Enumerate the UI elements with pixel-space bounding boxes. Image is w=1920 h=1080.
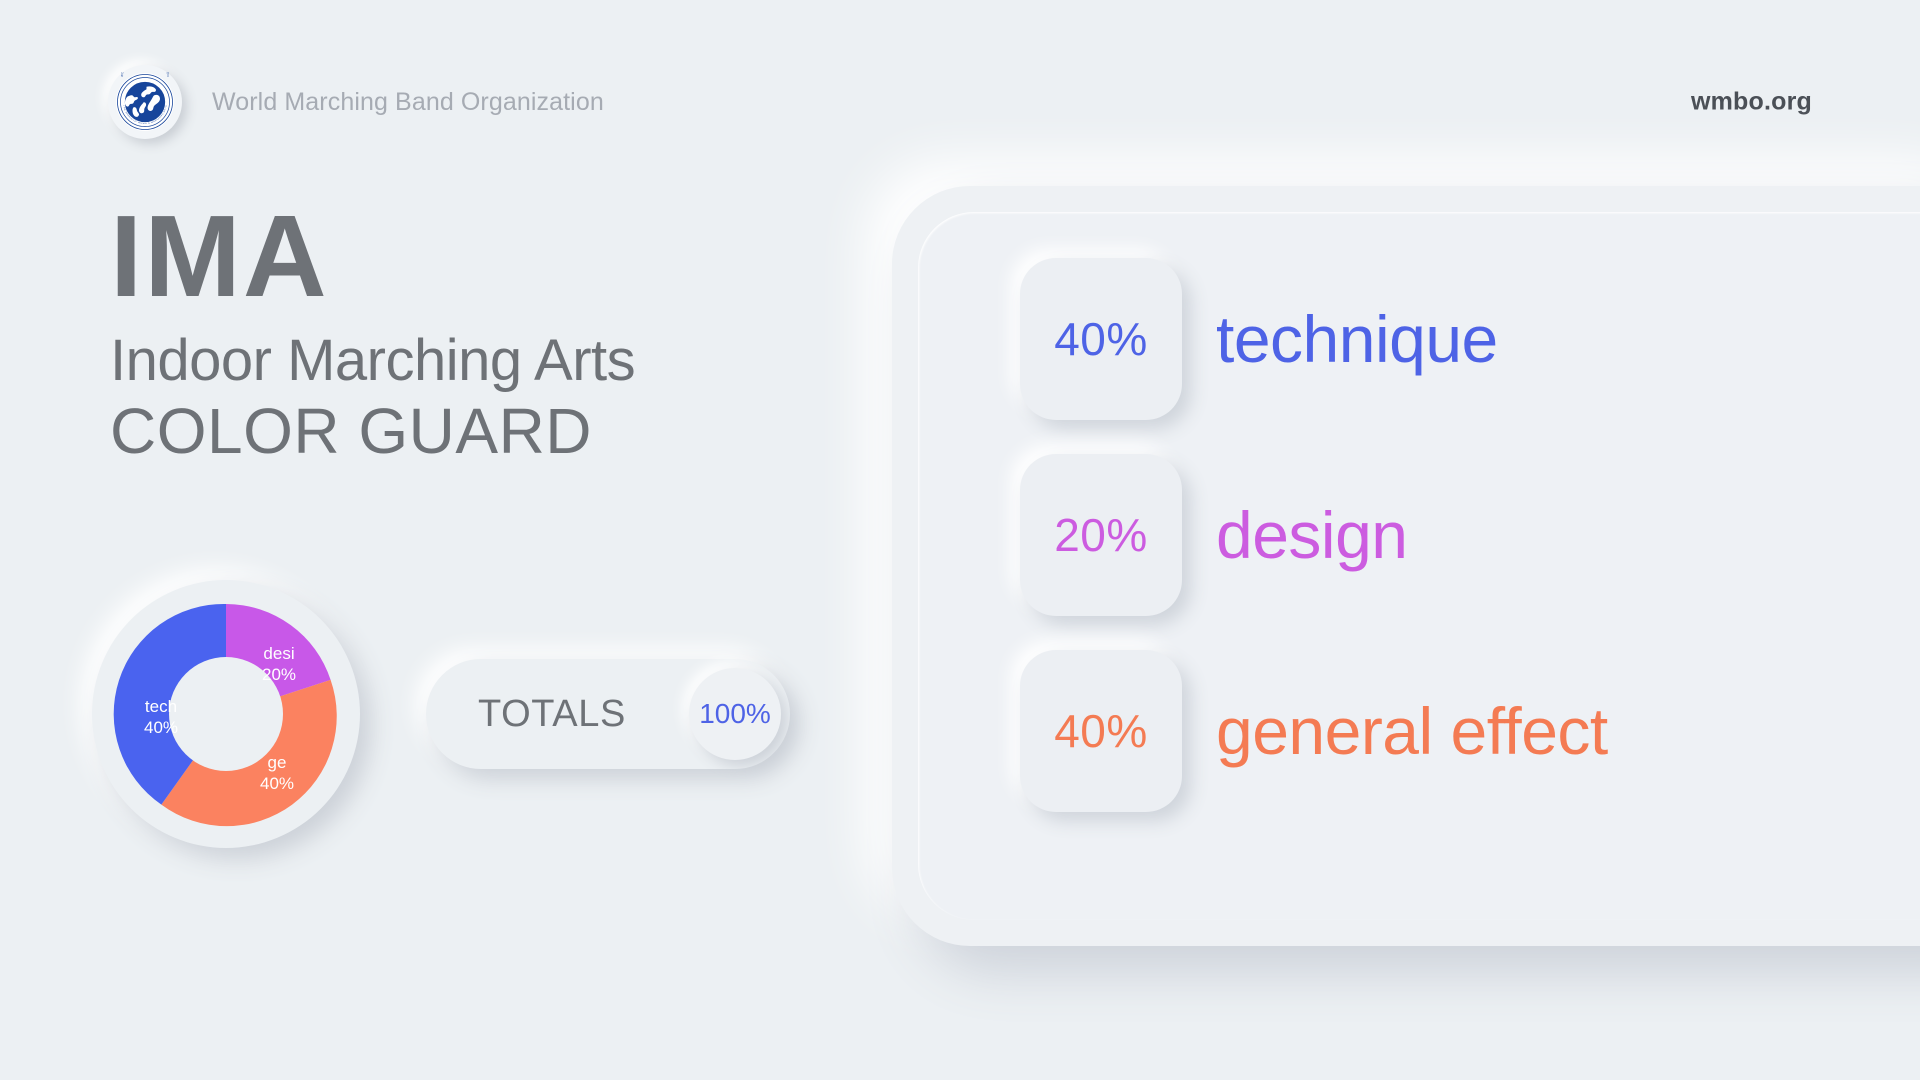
criteria-chip-technique[interactable]: 40% — [1020, 258, 1182, 420]
criteria-chip-general-effect[interactable]: 40% — [1020, 650, 1182, 812]
site-url-link[interactable]: wmbo.org — [1691, 88, 1812, 117]
criteria-name-technique: technique — [1216, 306, 1498, 372]
criteria-name-design: design — [1216, 502, 1408, 568]
criteria-row-technique[interactable]: 40% technique — [1020, 258, 1920, 420]
criteria-percent-design: 20% — [1054, 508, 1148, 562]
criteria-panel: 40% technique 20% design 40% general eff… — [892, 186, 1920, 946]
criteria-chip-design[interactable]: 20% — [1020, 454, 1182, 616]
totals-label: TOTALS — [478, 693, 626, 736]
organization-name: World Marching Band Organization — [212, 88, 604, 117]
hero-text-block: IMA Indoor Marching Arts COLOR GUARD — [110, 200, 850, 468]
criteria-row-general-effect[interactable]: 40% general effect — [1020, 650, 1920, 812]
page-header: WORLD MARCHING BAND ORGANIZATION THE WOR… — [0, 62, 1920, 142]
page-category: COLOR GUARD — [110, 396, 850, 468]
criteria-list: 40% technique 20% design 40% general eff… — [1020, 258, 1920, 812]
totals-value: 100% — [699, 698, 771, 730]
criteria-row-design[interactable]: 20% design — [1020, 454, 1920, 616]
donut-chart-container[interactable]: tech 40% desi 20% ge 40% — [92, 580, 360, 848]
brand-lockup: WORLD MARCHING BAND ORGANIZATION THE WOR… — [108, 65, 604, 139]
summary-metrics-row: tech 40% desi 20% ge 40% TOTALS 100% — [92, 580, 790, 848]
totals-pill[interactable]: TOTALS 100% — [426, 659, 790, 769]
totals-knob[interactable]: 100% — [689, 668, 781, 760]
criteria-percent-technique: 40% — [1054, 312, 1148, 366]
globe-badge-icon[interactable]: WORLD MARCHING BAND ORGANIZATION THE WOR… — [108, 65, 182, 139]
criteria-name-general-effect: general effect — [1216, 698, 1608, 764]
criteria-percent-general-effect: 40% — [1054, 704, 1148, 758]
donut-chart: tech 40% desi 20% ge 40% — [110, 598, 342, 830]
page-subtitle: Indoor Marching Arts — [110, 326, 850, 397]
page-title-acronym: IMA — [110, 200, 850, 314]
